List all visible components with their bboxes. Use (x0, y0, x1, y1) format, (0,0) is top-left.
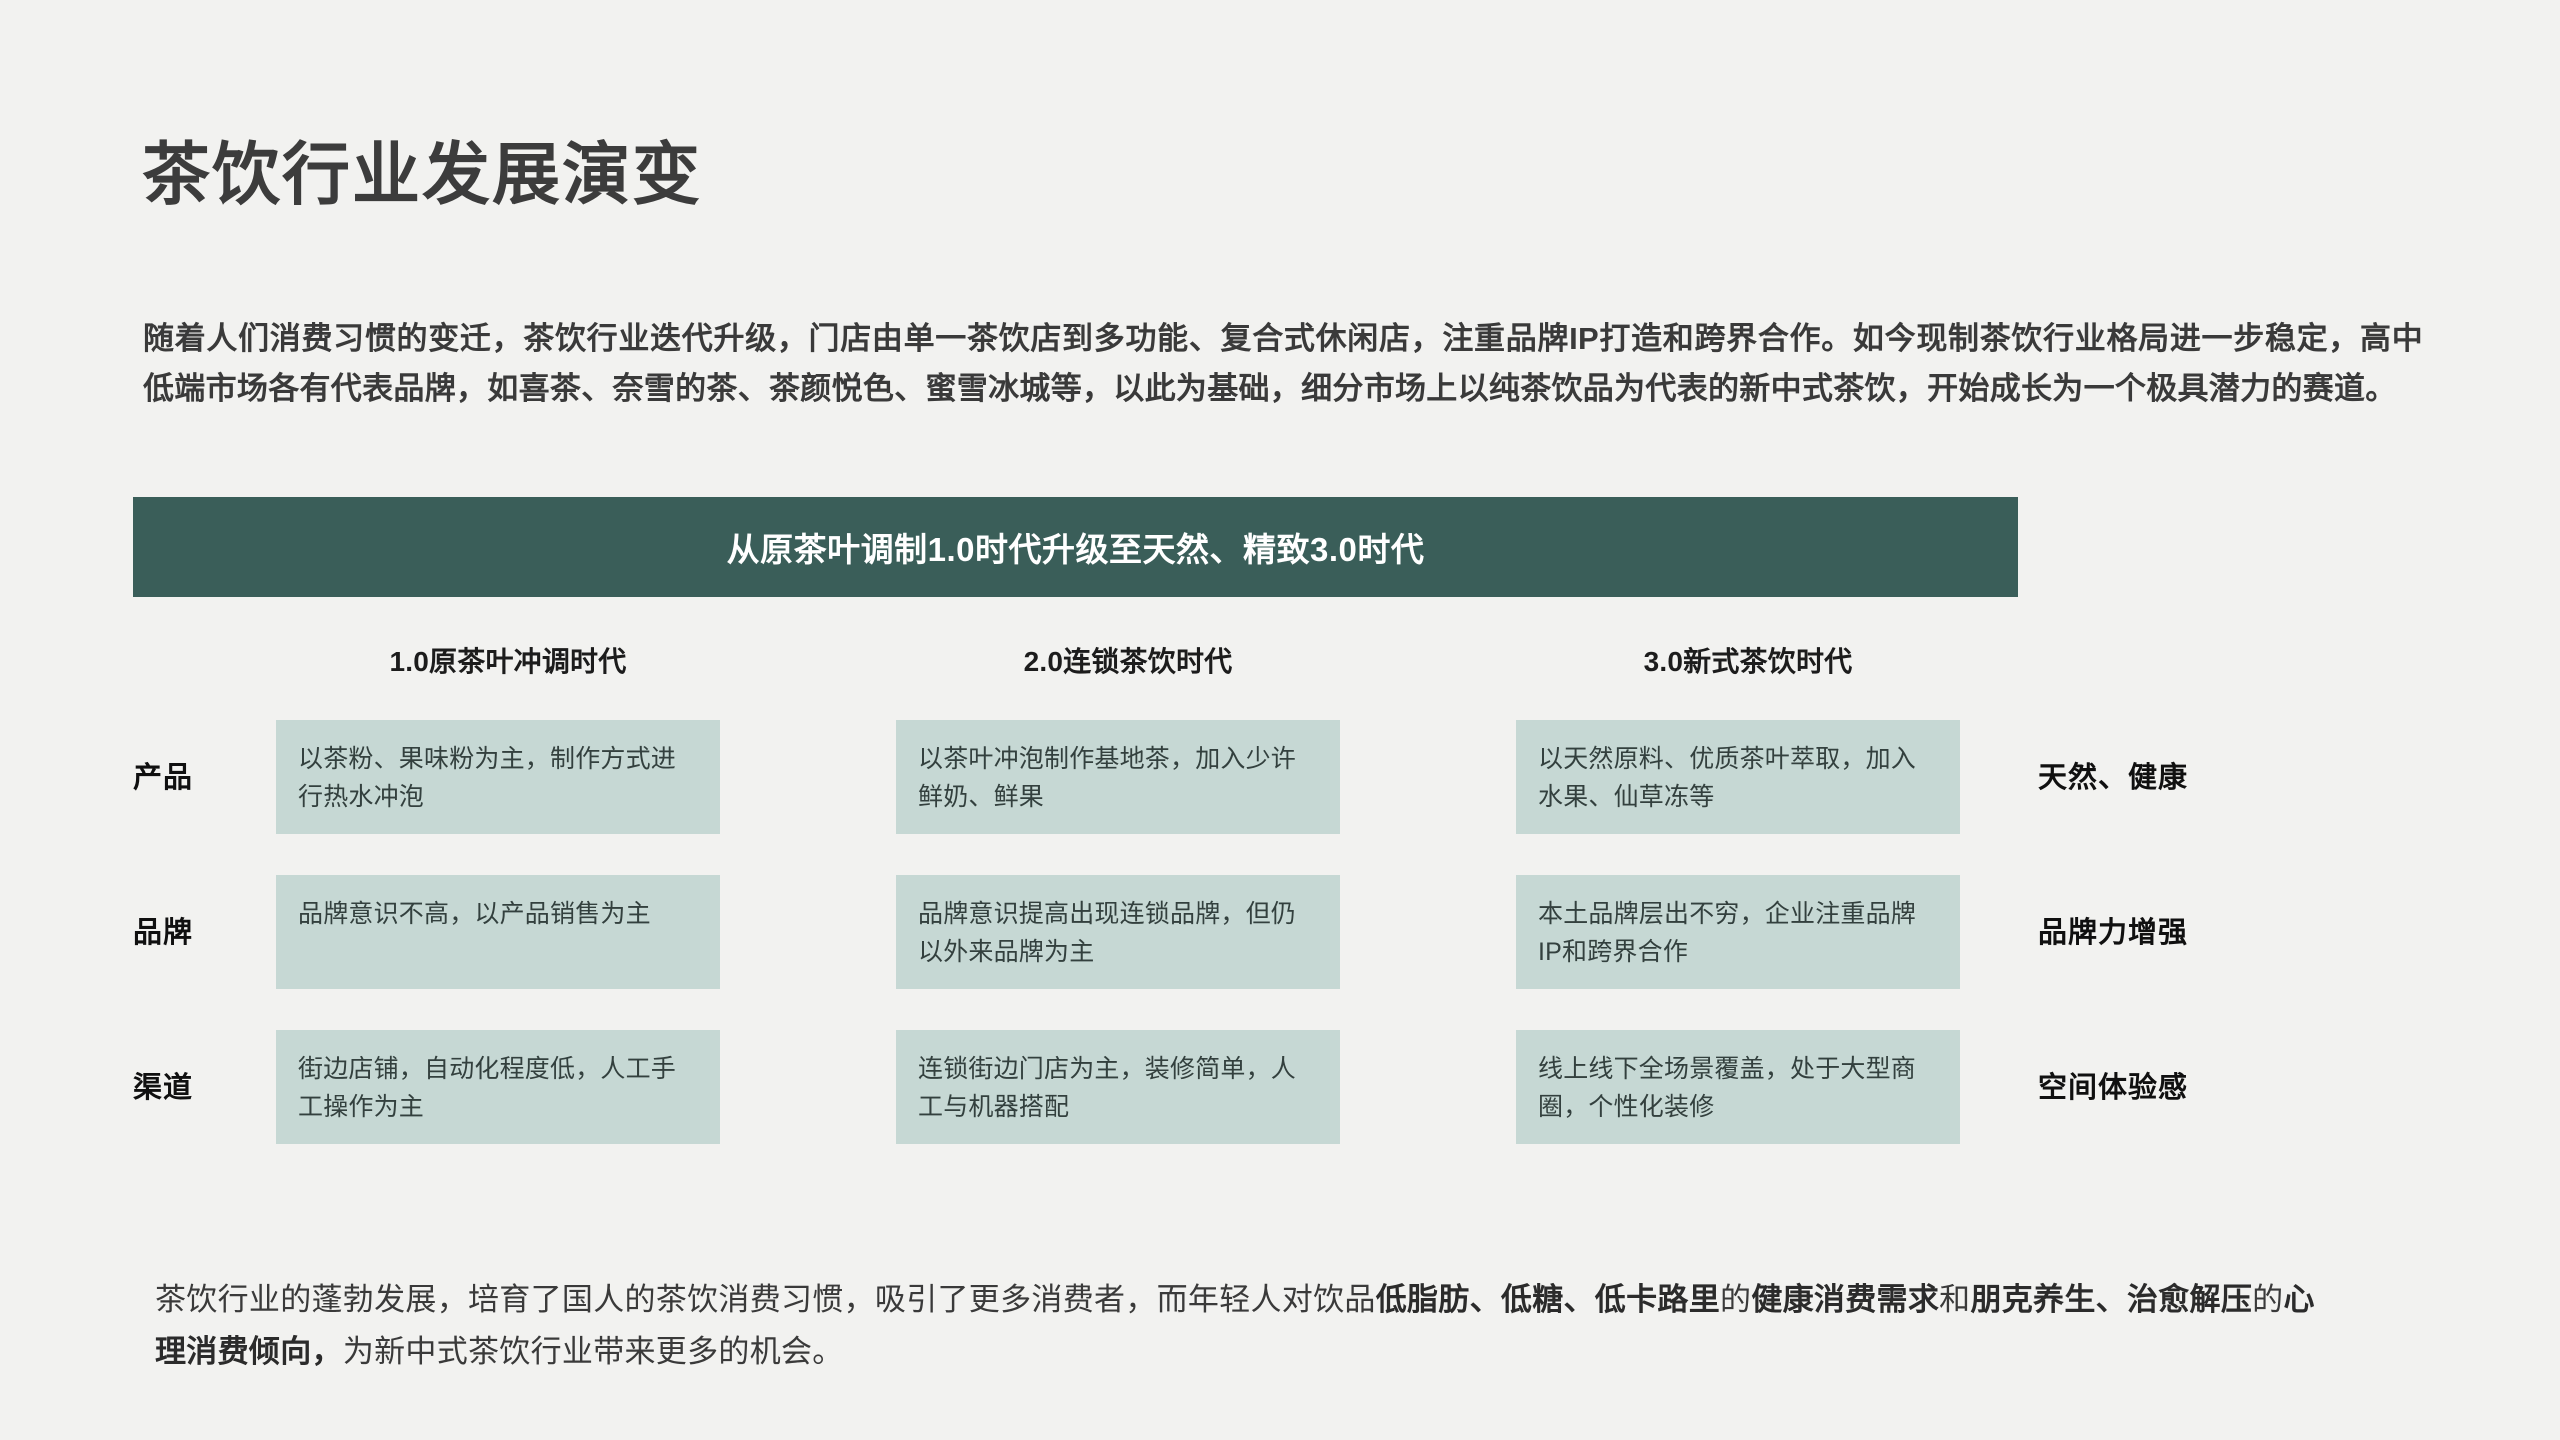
row-label-product: 产品 (133, 754, 273, 796)
intro-paragraph: 随着人们消费习惯的变迁，茶饮行业迭代升级，门店由单一茶饮店到多功能、复合式休闲店… (143, 314, 2423, 414)
matrix-cell: 以茶叶冲泡制作基地茶，加入少许鲜奶、鲜果 (896, 720, 1340, 834)
matrix-cell-text: 品牌意识提高出现连锁品牌，但仍以外来品牌为主 (918, 895, 1318, 971)
matrix-cell-text: 品牌意识不高，以产品销售为主 (298, 895, 698, 933)
matrix-cell-text: 线上线下全场景覆盖，处于大型商圈，个性化装修 (1538, 1050, 1938, 1126)
matrix-row: 产品 以茶粉、果味粉为主，制作方式进行热水冲泡 以茶叶冲泡制作基地茶，加入少许鲜… (133, 702, 2433, 857)
matrix-cell: 本土品牌层出不穷，企业注重品牌IP和跨界合作 (1516, 875, 1960, 989)
outro-paragraph: 茶饮行业的蓬勃发展，培育了国人的茶饮消费习惯，吸引了更多消费者，而年轻人对饮品低… (155, 1274, 2335, 1378)
row-label-channel: 渠道 (133, 1064, 273, 1106)
outro-emphasis: 低脂肪、低糖、低卡路里 (1376, 1282, 1720, 1317)
matrix-cell: 街边店铺，自动化程度低，人工手工操作为主 (276, 1030, 720, 1144)
matrix-cell: 品牌意识提高出现连锁品牌，但仍以外来品牌为主 (896, 875, 1340, 989)
matrix-row: 品牌 品牌意识不高，以产品销售为主 品牌意识提高出现连锁品牌，但仍以外来品牌为主… (133, 857, 2433, 1012)
slide-canvas: 茶饮行业发展演变 随着人们消费习惯的变迁，茶饮行业迭代升级，门店由单一茶饮店到多… (0, 0, 2560, 1440)
section-banner-title: 从原茶叶调制1.0时代升级至天然、精致3.0时代 (727, 523, 1425, 571)
matrix-row: 渠道 街边店铺，自动化程度低，人工手工操作为主 连锁街边门店为主，装修简单，人工… (133, 1012, 2433, 1167)
matrix-cell: 以茶粉、果味粉为主，制作方式进行热水冲泡 (276, 720, 720, 834)
outro-text: 的 (1720, 1282, 1751, 1317)
column-header-era-1: 1.0原茶叶冲调时代 (283, 640, 733, 680)
outro-text: 的 (2252, 1282, 2283, 1317)
row-outcome-brand: 品牌力增强 (2038, 909, 2418, 951)
matrix-cell-text: 以天然原料、优质茶叶萃取，加入水果、仙草冻等 (1538, 740, 1938, 816)
matrix-cell-text: 连锁街边门店为主，装修简单，人工与机器搭配 (918, 1050, 1318, 1126)
outro-text: 茶饮行业的蓬勃发展，培育了国人的茶饮消费习惯，吸引了更多消费者，而年轻人对饮品 (155, 1282, 1376, 1317)
matrix-cell: 品牌意识不高，以产品销售为主 (276, 875, 720, 989)
row-label-brand: 品牌 (133, 909, 273, 951)
column-header-era-3: 3.0新式茶饮时代 (1523, 640, 1973, 680)
matrix-cell-text: 以茶粉、果味粉为主，制作方式进行热水冲泡 (298, 740, 698, 816)
row-outcome-channel: 空间体验感 (2038, 1064, 2418, 1106)
page-title: 茶饮行业发展演变 (142, 138, 702, 213)
column-header-era-2: 2.0连锁茶饮时代 (903, 640, 1353, 680)
row-outcome-product: 天然、健康 (2038, 754, 2418, 796)
evolution-matrix: 1.0原茶叶冲调时代 2.0连锁茶饮时代 3.0新式茶饮时代 产品 以茶粉、果味… (133, 640, 2433, 1167)
outro-text: 和 (1939, 1282, 1970, 1317)
matrix-cell-text: 街边店铺，自动化程度低，人工手工操作为主 (298, 1050, 698, 1126)
outro-emphasis: 朋克养生、治愈解压 (1970, 1282, 2252, 1317)
matrix-cell: 连锁街边门店为主，装修简单，人工与机器搭配 (896, 1030, 1340, 1144)
outro-emphasis: 健康消费需求 (1751, 1282, 1939, 1317)
outro-text: 为新中式茶饮行业带来更多的机会。 (343, 1334, 844, 1369)
matrix-cell-text: 本土品牌层出不穷，企业注重品牌IP和跨界合作 (1538, 895, 1938, 971)
section-banner: 从原茶叶调制1.0时代升级至天然、精致3.0时代 (133, 497, 2018, 597)
matrix-cell: 线上线下全场景覆盖，处于大型商圈，个性化装修 (1516, 1030, 1960, 1144)
matrix-cell-text: 以茶叶冲泡制作基地茶，加入少许鲜奶、鲜果 (918, 740, 1318, 816)
matrix-column-headers: 1.0原茶叶冲调时代 2.0连锁茶饮时代 3.0新式茶饮时代 (133, 640, 2433, 702)
matrix-cell: 以天然原料、优质茶叶萃取，加入水果、仙草冻等 (1516, 720, 1960, 834)
